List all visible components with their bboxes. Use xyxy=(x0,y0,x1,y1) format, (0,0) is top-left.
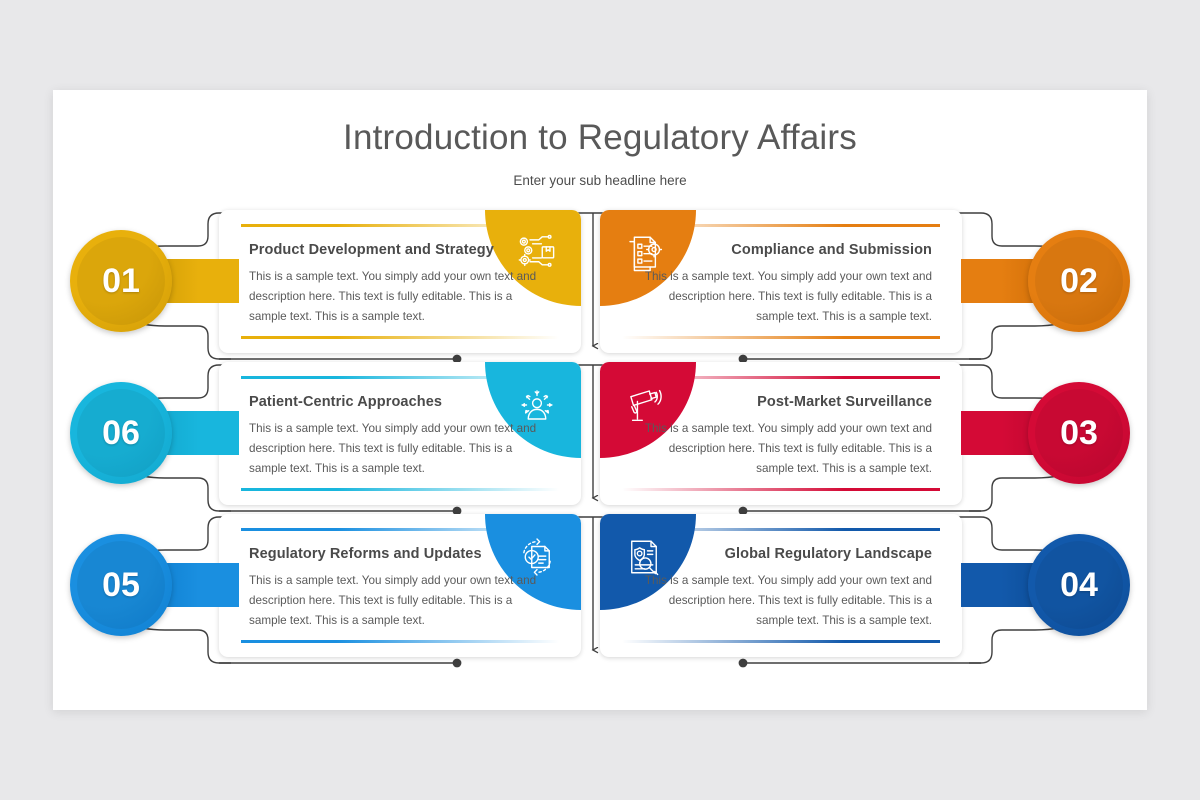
badge-number: 06 xyxy=(102,414,140,453)
badge-number: 01 xyxy=(102,262,140,301)
card-body: This is a sample text. You simply add yo… xyxy=(632,571,932,631)
number-badge-04[interactable]: 04 xyxy=(1028,534,1130,636)
card-global-regulatory-landscape[interactable]: Global Regulatory Landscape This is a sa… xyxy=(600,514,962,657)
card-body: This is a sample text. You simply add yo… xyxy=(249,267,549,327)
card-body: This is a sample text. You simply add yo… xyxy=(632,267,932,327)
card-title: Product Development and Strategy xyxy=(249,242,549,258)
card-body: This is a sample text. You simply add yo… xyxy=(632,419,932,479)
accent-bar-bottom xyxy=(241,336,559,339)
infographic-diagram: 01 xyxy=(53,90,1147,710)
diagram-row: 01 xyxy=(53,203,1147,355)
accent-bar-bottom xyxy=(622,336,940,339)
slide: Introduction to Regulatory Affairs Enter… xyxy=(53,90,1147,710)
card-body: This is a sample text. You simply add yo… xyxy=(249,419,549,479)
number-badge-02[interactable]: 02 xyxy=(1028,230,1130,332)
diagram-row: 05 xyxy=(53,507,1147,659)
card-compliance-submission[interactable]: Compliance and Submission This is a samp… xyxy=(600,210,962,353)
card-regulatory-reforms[interactable]: Regulatory Reforms and Updates This is a… xyxy=(219,514,581,657)
number-badge-06[interactable]: 06 xyxy=(70,382,172,484)
number-badge-03[interactable]: 03 xyxy=(1028,382,1130,484)
badge-number: 05 xyxy=(102,566,140,605)
number-badge-05[interactable]: 05 xyxy=(70,534,172,636)
card-text: Product Development and Strategy This is… xyxy=(249,242,549,327)
card-patient-centric[interactable]: Patient-Centric Approaches This is a sam… xyxy=(219,362,581,505)
accent-bar-bottom xyxy=(622,640,940,643)
number-badge-01[interactable]: 01 xyxy=(70,230,172,332)
badge-number: 02 xyxy=(1060,262,1098,301)
accent-bar-bottom xyxy=(622,488,940,491)
card-title: Patient-Centric Approaches xyxy=(249,394,549,410)
card-text: Patient-Centric Approaches This is a sam… xyxy=(249,394,549,479)
card-title: Regulatory Reforms and Updates xyxy=(249,546,549,562)
badge-number: 04 xyxy=(1060,566,1098,605)
accent-bar-bottom xyxy=(241,488,559,491)
card-text: Regulatory Reforms and Updates This is a… xyxy=(249,546,549,631)
card-title: Global Regulatory Landscape xyxy=(632,546,932,562)
card-post-market-surveillance[interactable]: Post-Market Surveillance This is a sampl… xyxy=(600,362,962,505)
card-body: This is a sample text. You simply add yo… xyxy=(249,571,549,631)
card-title: Compliance and Submission xyxy=(632,242,932,258)
card-text: Compliance and Submission This is a samp… xyxy=(632,242,932,327)
card-product-development[interactable]: Product Development and Strategy This is… xyxy=(219,210,581,353)
diagram-row: 06 xyxy=(53,355,1147,507)
card-text: Global Regulatory Landscape This is a sa… xyxy=(632,546,932,631)
card-text: Post-Market Surveillance This is a sampl… xyxy=(632,394,932,479)
card-title: Post-Market Surveillance xyxy=(632,394,932,410)
accent-bar-bottom xyxy=(241,640,559,643)
badge-number: 03 xyxy=(1060,414,1098,453)
